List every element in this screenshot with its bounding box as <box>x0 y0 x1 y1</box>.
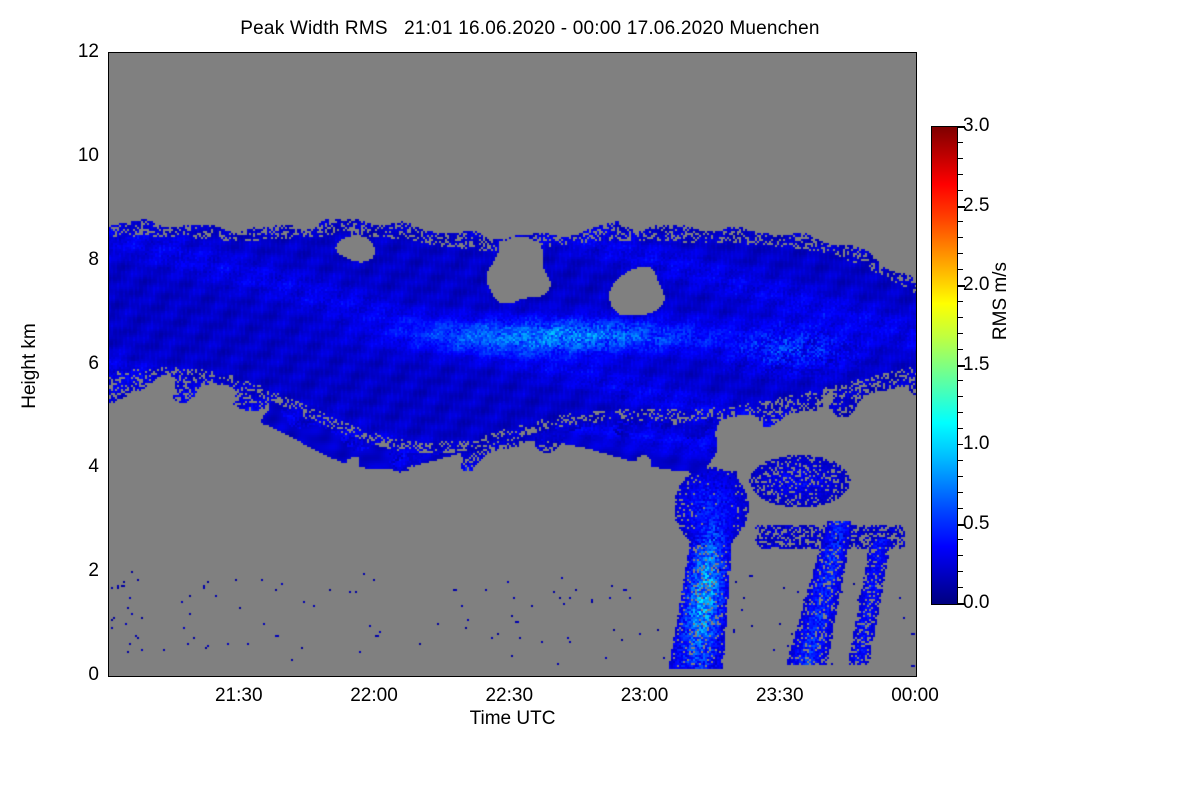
colorbar-tick <box>958 190 963 191</box>
y-axis-tick-label: 4 <box>88 456 99 478</box>
x-axis-title: Time UTC <box>108 708 917 730</box>
y-axis-tick <box>108 339 109 340</box>
colorbar-tick <box>958 380 963 381</box>
y-axis-tick <box>108 416 109 417</box>
colorbar-tick <box>958 349 963 350</box>
colorbar-tick-label: 2.5 <box>963 195 989 217</box>
y-axis-tick <box>108 79 109 80</box>
colorbar[interactable] <box>931 126 958 605</box>
colorbar-tick <box>958 555 963 556</box>
y-axis-tick <box>108 183 109 184</box>
colorbar-tick <box>958 237 963 238</box>
colorbar-tick-label: 2.0 <box>963 274 989 296</box>
x-axis-tick-label: 23:00 <box>621 685 669 707</box>
y-axis-tick <box>108 494 109 495</box>
colorbar-tick <box>958 396 963 397</box>
y-axis-tick-label: 6 <box>88 353 99 375</box>
figure-root: Peak Width RMS 21:01 16.06.2020 - 00:00 … <box>0 0 1200 800</box>
y-axis-tick <box>108 313 109 314</box>
x-axis-tick-label: 00:00 <box>891 685 939 707</box>
colorbar-tick-label: 1.0 <box>963 433 989 455</box>
colorbar-tick <box>958 142 963 143</box>
colorbar-tick <box>958 333 963 334</box>
colorbar-tick <box>958 317 963 318</box>
y-axis-labels: 024681012 <box>0 52 100 675</box>
y-axis-tick-label: 12 <box>78 41 99 63</box>
y-axis-tick <box>108 572 109 574</box>
colorbar-tick <box>958 539 963 540</box>
colorbar-tick <box>958 174 963 175</box>
colorbar-tick <box>958 476 963 477</box>
colorbar-tick <box>958 221 963 222</box>
x-axis-tick-label: 22:30 <box>485 685 533 707</box>
heatmap-canvas <box>109 53 916 676</box>
y-axis-tick <box>108 235 109 236</box>
colorbar-tick <box>958 492 963 493</box>
colorbar-tick <box>958 253 963 254</box>
x-axis-tick-label: 21:30 <box>215 685 263 707</box>
heatmap-plot-area[interactable] <box>108 52 917 677</box>
y-axis-tick <box>108 209 109 210</box>
y-axis-tick <box>108 287 109 288</box>
y-axis-tick <box>108 468 109 470</box>
y-axis-tick-label: 10 <box>78 145 99 167</box>
y-axis-tick-label: 2 <box>88 560 99 582</box>
y-axis-tick <box>108 365 109 367</box>
colorbar-tick <box>958 508 963 509</box>
y-axis-tick <box>108 520 109 521</box>
colorbar-tick-label: 3.0 <box>963 115 989 137</box>
y-axis-tick <box>108 131 109 132</box>
y-axis-tick <box>108 442 109 443</box>
page-title: Peak Width RMS 21:01 16.06.2020 - 00:00 … <box>0 18 1060 40</box>
y-axis-title: Height km <box>19 276 41 456</box>
colorbar-tick <box>958 301 963 302</box>
colorbar-tick <box>958 412 963 413</box>
colorbar-tick <box>958 428 963 429</box>
y-axis-tick <box>108 105 109 106</box>
y-axis-tick <box>108 157 109 159</box>
x-axis-tick-label: 23:30 <box>756 685 804 707</box>
colorbar-tick <box>958 571 963 572</box>
colorbar-tick <box>958 587 963 588</box>
y-axis-tick-label: 0 <box>88 664 99 686</box>
x-axis-labels: 21:3022:0022:3023:0023:3000:00 <box>108 677 917 707</box>
y-axis-tick <box>108 598 109 599</box>
y-axis-tick <box>108 261 109 263</box>
colorbar-tick-label: 0.5 <box>963 513 989 535</box>
y-axis-tick-label: 8 <box>88 249 99 271</box>
colorbar-tick <box>958 460 963 461</box>
colorbar-title: RMS m/s <box>990 211 1012 391</box>
colorbar-tick-label: 1.5 <box>963 354 989 376</box>
colorbar-tick <box>958 269 963 270</box>
colorbar-tick <box>958 158 963 159</box>
x-axis-tick-label: 22:00 <box>350 685 398 707</box>
y-axis-tick <box>108 546 109 547</box>
y-axis-tick <box>108 624 109 625</box>
y-axis-tick <box>108 650 109 651</box>
y-axis-tick <box>108 53 109 55</box>
colorbar-tick-label: 0.0 <box>963 592 989 614</box>
y-axis-tick <box>108 390 109 391</box>
